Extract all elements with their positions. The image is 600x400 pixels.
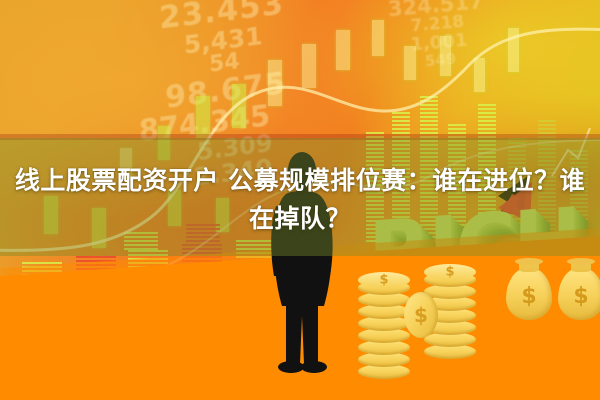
caption-line-1: 线上股票配资开户 公募规模排位赛：谁在进位？谁	[15, 166, 585, 195]
caption-line-2: 在掉队？	[249, 204, 351, 233]
banner-image: 23.453 5,431 54 98.675 874.345 5.309 2.3…	[0, 0, 600, 400]
caption-text: 线上股票配资开户 公募规模排位赛：谁在进位？谁 在掉队？	[8, 162, 592, 238]
